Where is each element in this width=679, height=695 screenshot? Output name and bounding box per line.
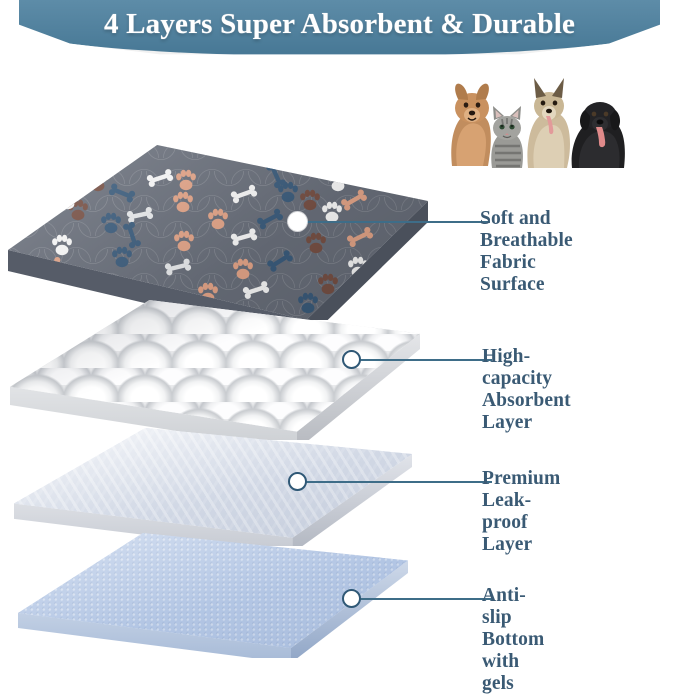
header-banner: 4 Layers Super Absorbent & Durable xyxy=(19,0,660,56)
leader-line xyxy=(298,481,492,483)
tan-dog-icon xyxy=(451,84,491,166)
leader-line xyxy=(352,598,492,600)
pets-group-photo xyxy=(424,58,639,170)
callout-label: Anti-slip Bottom with gels xyxy=(482,585,544,695)
printed-fabric-top-layer xyxy=(8,145,428,320)
callout-label: Premium Leak-proof Layer xyxy=(482,468,560,556)
leak-proof-layer xyxy=(14,428,412,546)
absorbent-puff-layer xyxy=(10,300,420,440)
callout-dot-marker xyxy=(342,350,361,369)
callout-label: High-capacity Absorbent Layer xyxy=(482,346,571,434)
callout-label: Soft and Breathable Fabric Surface xyxy=(480,208,573,296)
leader-line xyxy=(352,359,492,361)
layer1-top-face xyxy=(8,145,428,320)
callout-dot-marker xyxy=(288,472,307,491)
leader-line xyxy=(298,221,490,223)
callout-dot-marker xyxy=(342,589,361,608)
callout-dot-marker xyxy=(288,212,307,231)
page-title: 4 Layers Super Absorbent & Durable xyxy=(19,8,660,41)
pets-illustration xyxy=(424,58,639,170)
layer1-shading xyxy=(8,145,428,320)
